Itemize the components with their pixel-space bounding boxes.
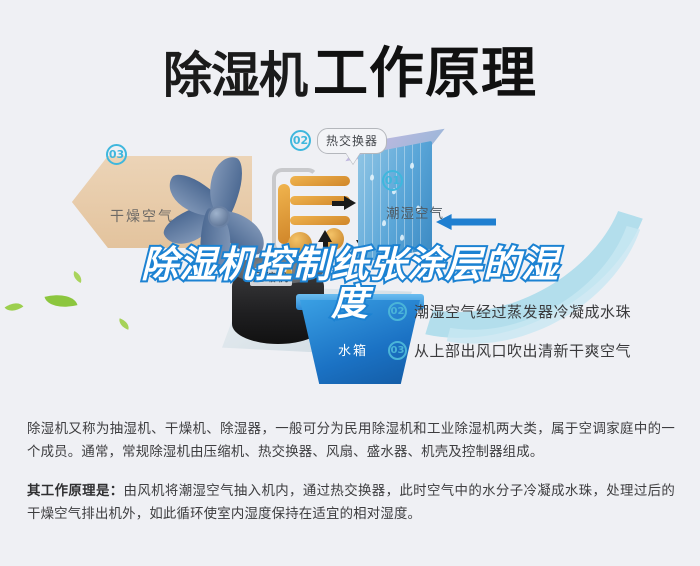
title-part-two: 工作原理 xyxy=(313,41,537,105)
water-tank-label: 水箱 xyxy=(338,340,368,359)
paragraph-two-label: 其工作原理是： xyxy=(27,484,124,499)
fan-icon xyxy=(168,154,288,264)
marker-02: 02 xyxy=(290,130,311,151)
title-part-one: 除湿机 xyxy=(163,47,307,104)
heat-exchanger-callout: 热交换器 xyxy=(317,128,387,154)
humid-air-label: 潮湿空气 xyxy=(386,202,444,222)
leaf-icon xyxy=(5,298,24,315)
diagram-illustration: 干燥空气 xyxy=(0,118,700,398)
dry-air-label: 干燥空气 xyxy=(110,206,174,226)
infographic-page: 除湿机工作原理 干燥空气 xyxy=(0,0,700,566)
right-arrow-stem xyxy=(332,201,345,206)
list-item: 02 潮湿空气经过蒸发器冷凝成水珠 xyxy=(388,301,631,322)
paragraph-two: 其工作原理是：由风机将潮湿空气抽入机内，通过热交换器，此时空气中的水分子冷凝成水… xyxy=(27,480,675,526)
marker-03: 03 xyxy=(106,144,127,165)
leaf-icon xyxy=(45,290,78,313)
list-item: 03 从上部出风口吹出清新干爽空气 xyxy=(388,340,631,361)
article-body: 除湿机又称为抽湿机、干燥机、除湿器，一般可分为民用除湿机和工业除湿机两大类，属于… xyxy=(27,418,675,542)
legend-badge: 02 xyxy=(388,302,407,321)
marker-01: 01 xyxy=(382,170,403,191)
right-arrow-icon xyxy=(344,196,356,210)
leaf-icon xyxy=(71,271,84,283)
paragraph-one: 除湿机又称为抽湿机、干燥机、除湿器，一般可分为民用除湿机和工业除湿机两大类，属于… xyxy=(27,418,675,464)
condensate-drip-icon xyxy=(286,268,292,277)
paragraph-two-rest: 由风机将潮湿空气抽入机内，通过热交换器，此时空气中的水分子冷凝成水珠，处理过后的… xyxy=(27,484,675,522)
page-title: 除湿机工作原理 xyxy=(0,28,700,108)
legend-label: 潮湿空气经过蒸发器冷凝成水珠 xyxy=(414,301,631,322)
up-arrow-stem xyxy=(323,240,328,252)
legend-list: 02 潮湿空气经过蒸发器冷凝成水珠 03 从上部出风口吹出清新干爽空气 xyxy=(388,301,631,379)
leaf-icon xyxy=(117,318,131,330)
legend-badge: 03 xyxy=(388,341,407,360)
legend-label: 从上部出风口吹出清新干爽空气 xyxy=(414,340,631,361)
